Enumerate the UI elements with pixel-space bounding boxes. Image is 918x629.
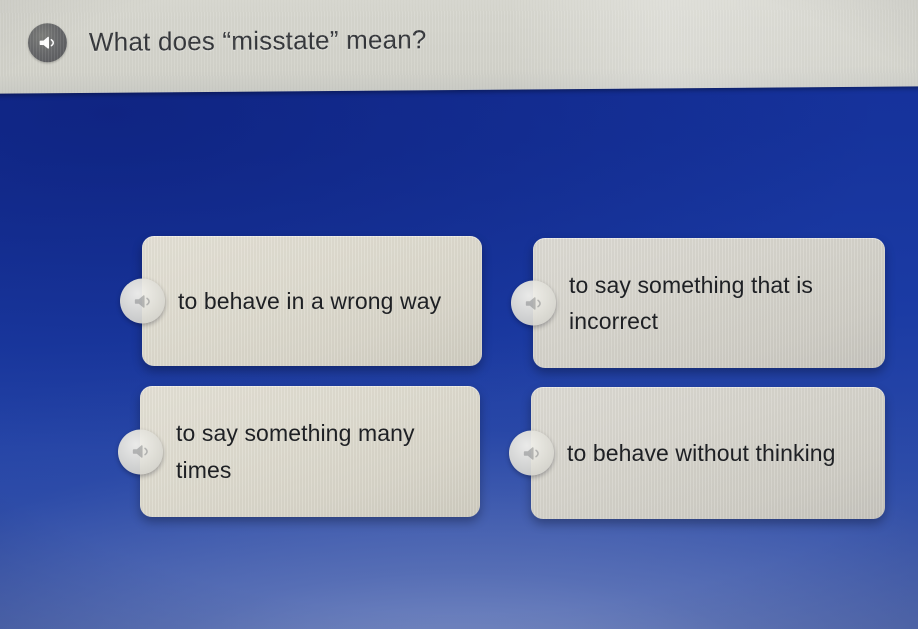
answer-option-label: to behave in a wrong way xyxy=(178,283,441,319)
speaker-icon[interactable] xyxy=(509,431,554,476)
answer-option-label: to say something that is incorrect xyxy=(569,267,867,340)
answer-option-4[interactable]: to behave without thinking xyxy=(531,387,885,519)
answer-option-2[interactable]: to say something that is incorrect xyxy=(533,238,885,368)
answer-option-label: to behave without thinking xyxy=(567,435,836,471)
answer-option-3[interactable]: to say something many times xyxy=(140,386,480,517)
answer-options: to behave in a wrong way to say somethin… xyxy=(0,0,918,629)
speaker-icon[interactable] xyxy=(118,429,163,474)
answer-option-1[interactable]: to behave in a wrong way xyxy=(142,236,482,366)
answer-option-label: to say something many times xyxy=(176,415,462,488)
speaker-icon[interactable] xyxy=(511,281,556,326)
quiz-screen: What does “misstate” mean? to behave in … xyxy=(0,0,918,629)
speaker-icon[interactable] xyxy=(120,279,165,324)
